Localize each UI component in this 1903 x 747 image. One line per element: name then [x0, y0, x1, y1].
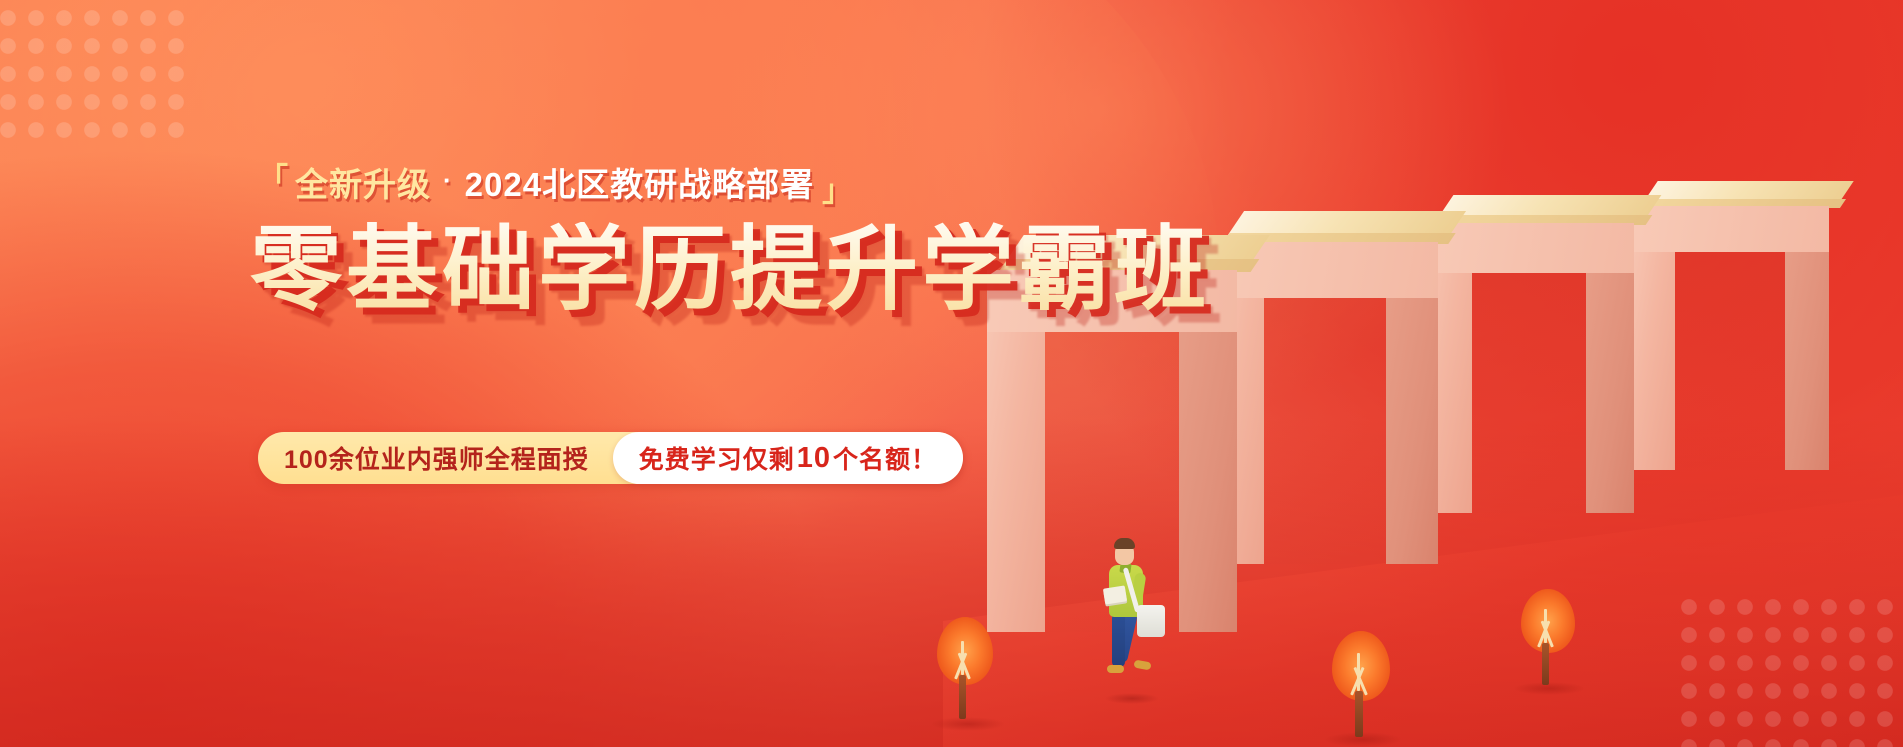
badge-row: 100余位业内强师全程面授 免费学习仅剩 10 个名额！ — [258, 432, 963, 484]
bracket-close: 」 — [822, 166, 853, 210]
subtitle-rest: 2024北区教研战略部署 — [465, 158, 814, 206]
pill-prefix: 免费学习仅剩 — [639, 440, 795, 476]
copy-block: 「 全新升级 · 2024北区教研战略部署 」 零基础学历提升学霸班 100余位… — [0, 0, 1120, 747]
banner-title: 零基础学历提升学霸班 — [250, 222, 1210, 319]
seats-remaining-pill[interactable]: 免费学习仅剩 10 个名额！ — [613, 432, 963, 484]
badge-left-text: 100余位业内强师全程面授 — [284, 440, 613, 476]
bracket-open: 「 — [258, 154, 289, 198]
pill-suffix: 个名额！ — [833, 440, 937, 476]
banner-subtitle: 「 全新升级 · 2024北区教研战略部署 」 — [258, 158, 853, 206]
subtitle-separator: · — [443, 165, 453, 196]
pill-number: 10 — [795, 442, 833, 475]
tree-right — [1517, 589, 1583, 693]
figure-shoe-right — [1133, 660, 1151, 671]
subtitle-highlight: 全新升级 — [295, 158, 431, 206]
promo-banner: 「 全新升级 · 2024北区教研战略部署 」 零基础学历提升学霸班 100余位… — [0, 0, 1903, 747]
figure-bag — [1137, 605, 1165, 637]
tree-mid — [1328, 631, 1398, 743]
